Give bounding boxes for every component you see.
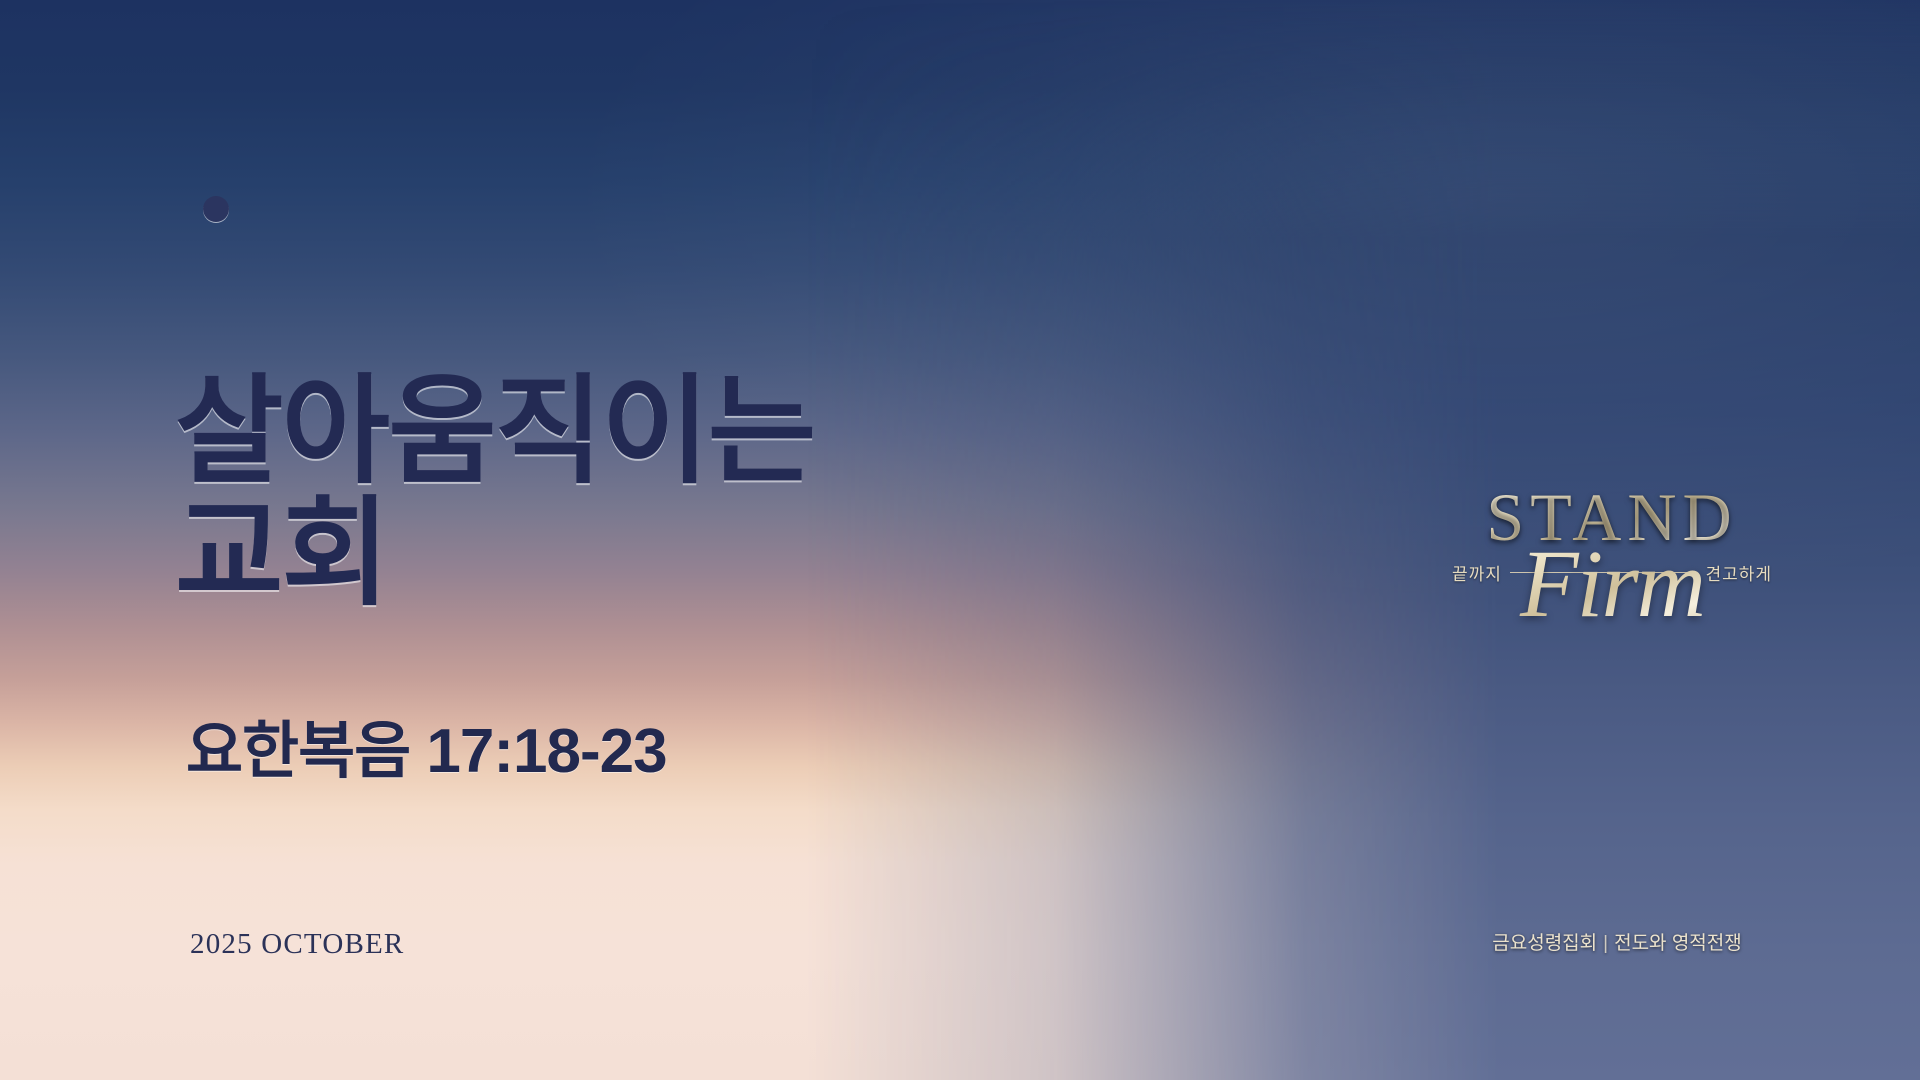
stand-firm-logo: STAND 끝까지 견고하게 Firm xyxy=(1452,478,1772,663)
caption-separator: | xyxy=(1603,933,1608,954)
title-accent-dot xyxy=(203,196,229,222)
caption-series: 금요성령집회 xyxy=(1492,933,1597,954)
date-label: 2025 OCTOBER xyxy=(190,928,404,961)
series-caption: 금요성령집회|전도와 영적전쟁 xyxy=(1452,928,1782,955)
caption-topic: 전도와 영적전쟁 xyxy=(1614,933,1742,954)
page-title-text: 살아움직이는 교회 xyxy=(175,366,814,621)
sermon-title-slide: 살아움직이는 교회 요한복음 17:18-23 2025 OCTOBER STA… xyxy=(0,0,1920,1080)
page-title: 살아움직이는 교회 xyxy=(175,248,895,616)
scripture-reference: 요한복음 17:18-23 xyxy=(186,700,667,790)
logo-word-firm: Firm xyxy=(1452,528,1772,639)
